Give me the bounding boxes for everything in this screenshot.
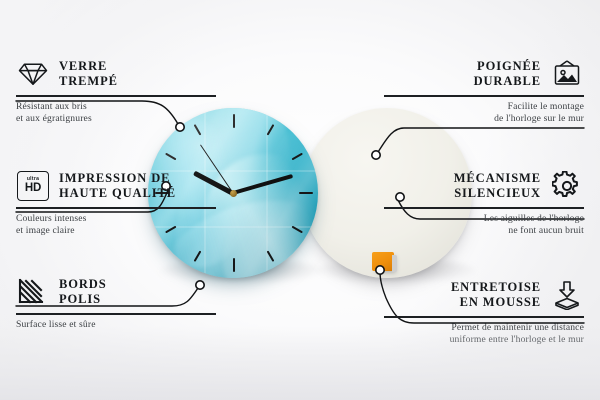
gear-icon (550, 169, 584, 203)
clock-minute-hand (232, 174, 293, 195)
feature-verre-trempe[interactable]: VERRE TREMPÉ Résistant aux bris et aux é… (16, 57, 216, 126)
feature-divider (16, 95, 216, 97)
clock-tick (165, 153, 176, 161)
feature-title-line1: ENTRETOISE (451, 280, 541, 295)
feature-desc-line2: et aux égratignures (16, 113, 216, 126)
feature-description: Les aiguilles de l'horloge ne font aucun… (384, 213, 584, 239)
hanging-frame-icon (550, 57, 584, 91)
feature-title-line1: IMPRESSION DE (59, 171, 176, 186)
ultra-hd-badge-icon: ultra HD (16, 169, 50, 203)
feature-desc-line1: Résistant aux bris (16, 101, 216, 114)
feature-title-line2: EN MOUSSE (451, 295, 541, 310)
feature-divider (16, 207, 216, 209)
feature-title-line2: DURABLE (474, 74, 541, 89)
clock-tick (194, 251, 202, 262)
feature-title: BORDS POLIS (59, 277, 107, 308)
feature-title-line1: POIGNÉE (474, 59, 541, 74)
feature-description: Résistant aux bris et aux égratignures (16, 101, 216, 127)
polished-edge-icon (16, 275, 50, 309)
feature-desc-line1: Facilite le montage (384, 101, 584, 114)
feature-entretoise-en-mousse[interactable]: ENTRETOISE EN MOUSSE Permet de maintenir… (384, 278, 584, 347)
feature-divider (384, 207, 584, 209)
feature-header: BORDS POLIS (16, 275, 216, 309)
feature-desc-line2: de l'horloge sur le mur (384, 113, 584, 126)
feature-description: Surface lisse et sûre (16, 319, 216, 332)
feature-desc-line2: uniforme entre l'horloge et le mur (384, 334, 584, 347)
feature-bords-polis[interactable]: BORDS POLIS Surface lisse et sûre (16, 275, 216, 331)
feature-desc-line1: Les aiguilles de l'horloge (384, 213, 584, 226)
feature-title-line2: TREMPÉ (59, 74, 118, 89)
feature-desc-line2: ne font aucun bruit (384, 225, 584, 238)
feature-title: ENTRETOISE EN MOUSSE (451, 280, 541, 311)
feature-title-line2: HAUTE QUALITÉ (59, 186, 176, 201)
feature-title-line2: SILENCIEUX (454, 186, 541, 201)
feature-title-line1: BORDS (59, 277, 107, 292)
foam-spacer (372, 252, 394, 271)
clock-tick (267, 124, 275, 135)
feature-divider (384, 95, 584, 97)
clock-tick (233, 258, 235, 272)
clock-tick (292, 226, 303, 234)
feature-divider (384, 316, 584, 318)
feature-description: Facilite le montage de l'horloge sur le … (384, 101, 584, 127)
hd-badge-hd-text: HD (25, 183, 41, 195)
feature-header: VERRE TREMPÉ (16, 57, 216, 91)
feature-header: MÉCANISME SILENCIEUX (384, 169, 584, 203)
feature-title: POIGNÉE DURABLE (474, 59, 541, 90)
clock-tick (299, 192, 313, 194)
feature-title-line2: POLIS (59, 292, 107, 307)
press-down-foam-icon (550, 278, 584, 312)
diamond-icon (16, 57, 50, 91)
clock-tick (267, 251, 275, 262)
clock-center-cap (230, 190, 237, 197)
infographic-canvas: VERRE TREMPÉ Résistant aux bris et aux é… (0, 0, 600, 400)
clock-tick (233, 114, 235, 128)
feature-description: Couleurs intenses et image claire (16, 213, 216, 239)
feature-description: Permet de maintenir une distance uniform… (384, 322, 584, 348)
feature-title: MÉCANISME SILENCIEUX (454, 171, 541, 202)
feature-header: ENTRETOISE EN MOUSSE (384, 278, 584, 312)
feature-impression-haute-qualite[interactable]: ultra HD IMPRESSION DE HAUTE QUALITÉ Cou… (16, 169, 216, 238)
feature-title-line1: VERRE (59, 59, 118, 74)
feature-divider (16, 313, 216, 315)
feature-desc-line1: Surface lisse et sûre (16, 319, 216, 332)
clock-tick (292, 153, 303, 161)
feature-header: ultra HD IMPRESSION DE HAUTE QUALITÉ (16, 169, 216, 203)
feature-desc-line2: et image claire (16, 225, 216, 238)
feature-header: POIGNÉE DURABLE (384, 57, 584, 91)
feature-mecanisme-silencieux[interactable]: MÉCANISME SILENCIEUX Les aiguilles de l'… (384, 169, 584, 238)
feature-desc-line1: Permet de maintenir une distance (384, 322, 584, 335)
feature-title: VERRE TREMPÉ (59, 59, 118, 90)
feature-title-line1: MÉCANISME (454, 171, 541, 186)
feature-desc-line1: Couleurs intenses (16, 213, 216, 226)
feature-title: IMPRESSION DE HAUTE QUALITÉ (59, 171, 176, 202)
feature-poignee-durable[interactable]: POIGNÉE DURABLE Facilite le montage de l… (384, 57, 584, 126)
